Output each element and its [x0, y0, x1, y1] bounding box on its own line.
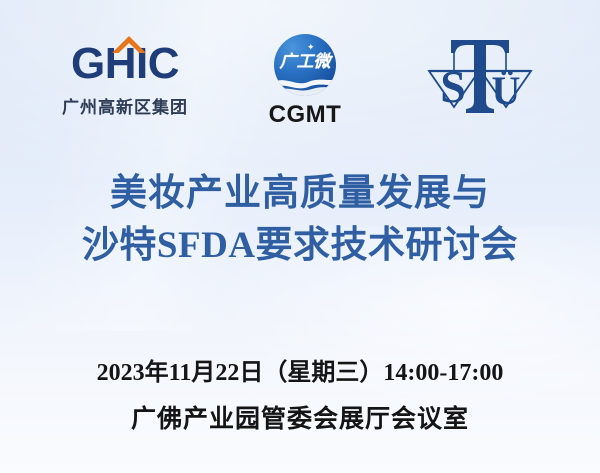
ghic-chinese-name: 广州高新区集团: [62, 93, 188, 118]
title-line-2: 沙特SFDA要求技术研讨会: [0, 220, 600, 272]
ghic-wordmark: GHIC: [55, 34, 195, 86]
event-venue: 广佛产业园管委会展厅会议室: [0, 403, 600, 437]
cgmt-badge-text: 广工微: [274, 53, 336, 70]
stu-letter-u: Ü: [492, 68, 521, 113]
stu-letter-s: S: [440, 61, 466, 112]
balance-scale-icon: S Ü: [415, 34, 545, 116]
event-datetime: 2023年11月22日（星期三）14:00-17:00: [0, 356, 600, 390]
poster-info: 2023年11月22日（星期三）14:00-17:00 广佛产业园管委会展厅会议…: [0, 356, 600, 437]
wave-icon: [274, 70, 336, 96]
logo-ghic: GHIC 广州高新区集团: [30, 34, 220, 118]
logo-cgmt: ✦ 广工微 CGMT: [220, 34, 390, 127]
cgmt-label: CGMT: [269, 103, 342, 127]
sparkle-icon: ✦: [307, 43, 315, 52]
blue-circle-wave-icon: ✦ 广工微: [274, 34, 336, 96]
logo-row: GHIC 广州高新区集团 ✦ 广工微 CGMT: [0, 34, 600, 129]
logo-stu: S Ü: [390, 34, 570, 116]
orange-chevron-icon: [109, 34, 149, 54]
seminar-poster: GHIC 广州高新区集团 ✦ 广工微 CGMT: [0, 0, 600, 473]
title-line-1: 美妆产业高质量发展与: [0, 168, 600, 220]
poster-title: 美妆产业高质量发展与 沙特SFDA要求技术研讨会: [0, 168, 600, 272]
